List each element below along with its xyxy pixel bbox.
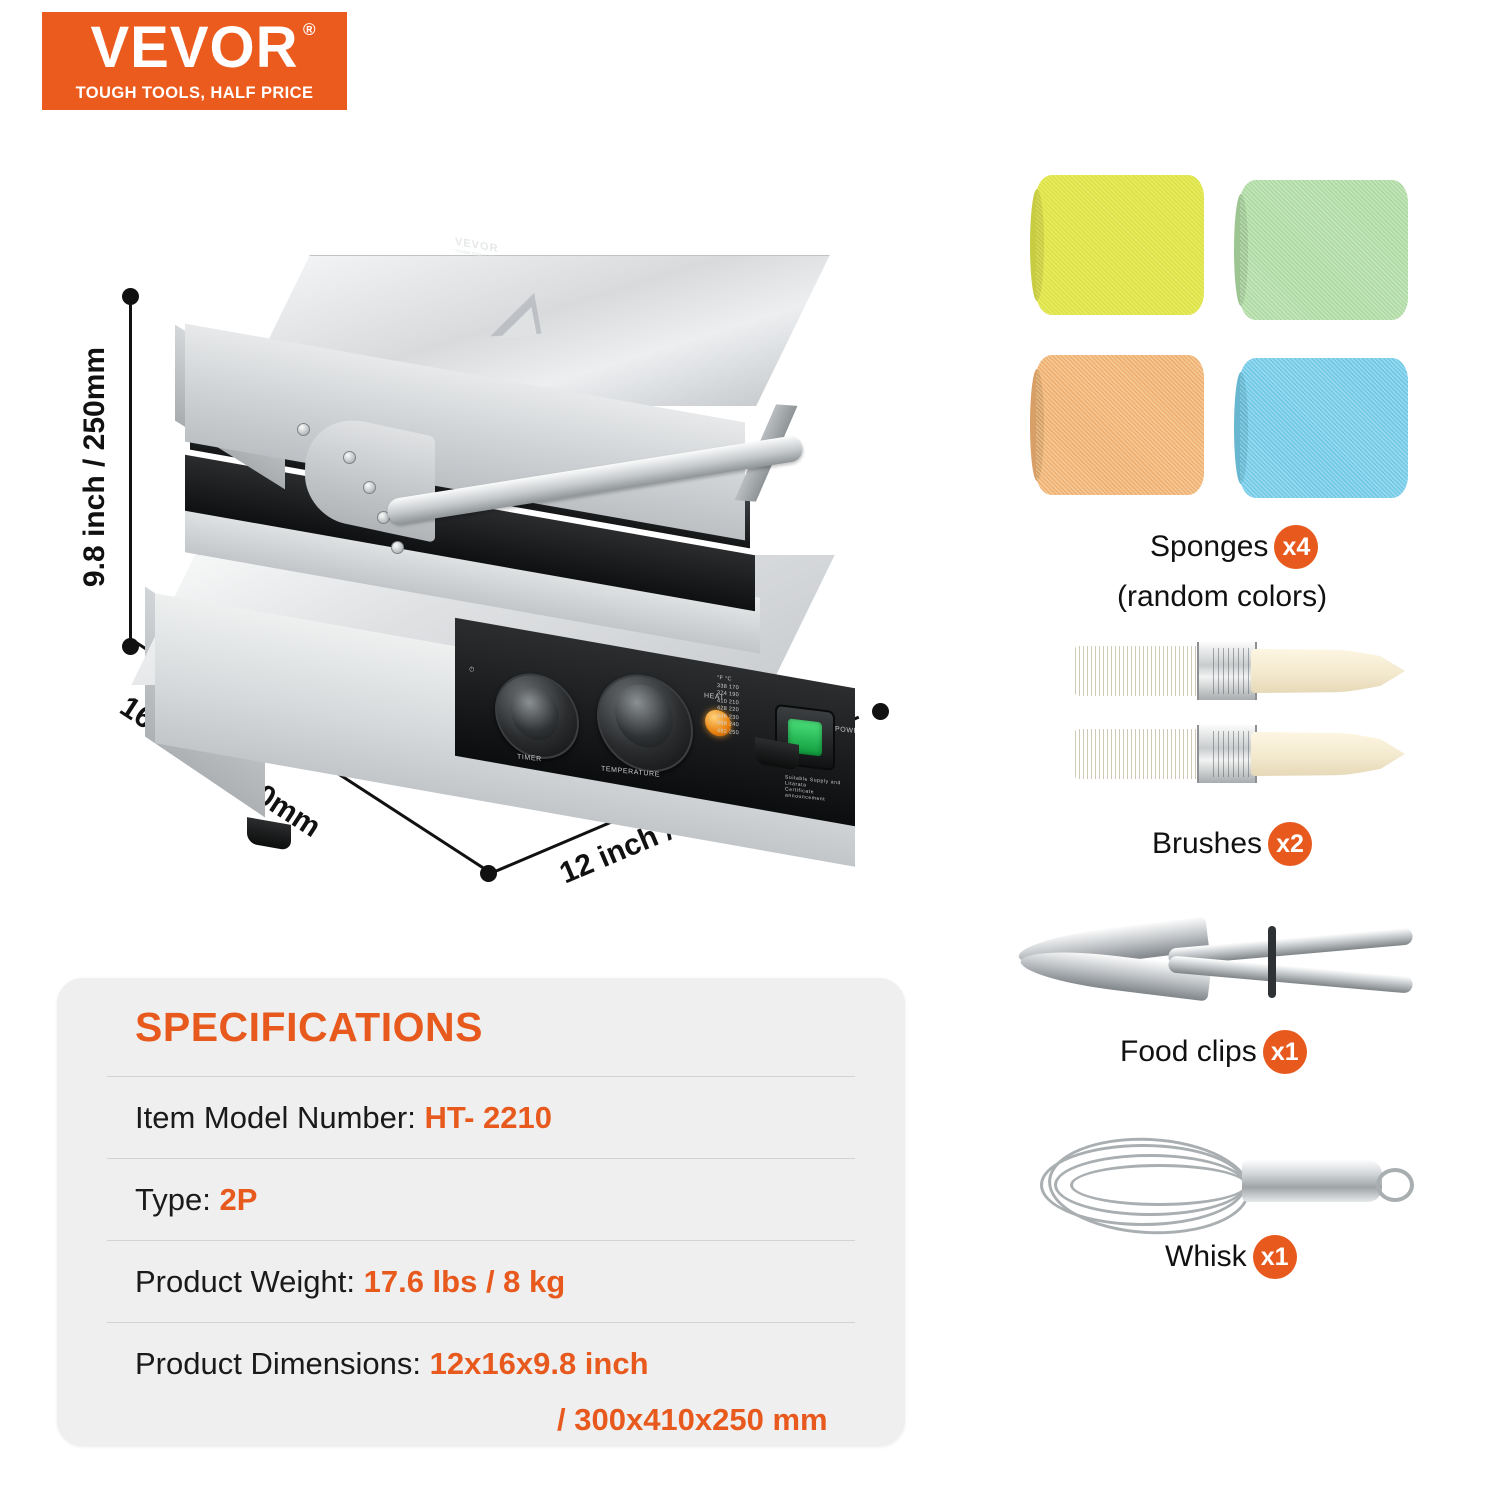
timer-knob-label: TIMER [517,754,542,764]
brand-name: VEVOR [90,15,298,80]
spec-value-dimensions-mm: / 300x410x250 mm [557,1402,828,1438]
spec-divider [107,1322,855,1323]
spec-divider [107,1076,855,1077]
brushes-label: Brushes x2 [1152,822,1312,866]
sponges-label-text: Sponges [1150,530,1268,564]
brand-wordmark: VEVOR ® [90,19,298,77]
spec-value-type: 2P [219,1182,257,1217]
spec-value-weight: 17.6 lbs / 8 kg [364,1264,566,1299]
spec-value-dimensions: 12x16x9.8 inch [430,1346,649,1381]
hinge-screw [343,451,356,464]
brush-item [1075,723,1405,785]
brushes-qty-badge: x2 [1268,822,1312,866]
sponge-yellow [1036,175,1204,315]
specifications-card: SPECIFICATIONS Item Model Number: HT- 22… [57,978,905,1446]
spec-divider [107,1240,855,1241]
tong-lock-ring [1268,926,1276,998]
brand-tagline: TOUGH TOOLS, HALF PRICE [76,84,314,103]
food-clips-label-text: Food clips [1120,1035,1257,1069]
timer-icon: ⏱ [469,666,475,675]
brush-bristles [1075,646,1201,696]
hinge-screw [363,481,376,494]
whisk-label-text: Whisk [1165,1240,1247,1274]
spec-row-weight: Product Weight: 17.6 lbs / 8 kg [135,1264,565,1300]
spec-divider [107,1158,855,1159]
spec-row-dimensions: Product Dimensions: 12x16x9.8 inch [135,1346,649,1382]
sponge-blue [1240,358,1408,498]
spec-label-weight: Product Weight: [135,1264,355,1299]
whisk-wire [1046,1133,1253,1239]
food-clips-qty-badge: x1 [1263,1030,1307,1074]
spec-label-dimensions: Product Dimensions: [135,1346,421,1381]
sponges-note: (random colors) [1117,580,1327,614]
specifications-title: SPECIFICATIONS [135,1004,483,1051]
whisk-handle [1242,1160,1382,1202]
whisk-qty-badge: x1 [1253,1235,1297,1279]
whisk-label: Whisk x1 [1165,1235,1297,1279]
spec-row-model: Item Model Number: HT- 2210 [135,1100,552,1136]
sponges-label: Sponges x4 [1150,525,1318,569]
machine-foot [247,817,291,851]
spec-label-type: Type: [135,1182,211,1217]
brush-handle [1251,732,1405,776]
product-photo: 9.8 inch / 250mm 16 inch / 410mm 12 inch… [60,170,920,930]
registered-trademark-icon: ® [303,21,317,38]
brush-ferrule [1197,642,1257,700]
whisk-hanging-loop [1376,1168,1414,1202]
height-dim-line [129,296,132,646]
sponges-qty-badge: x4 [1274,525,1318,569]
vevor-logo: VEVOR ® TOUGH TOOLS, HALF PRICE [42,12,347,110]
brush-handle [1251,649,1405,693]
food-clips-item [1018,912,1418,1012]
height-dim-label: 9.8 inch / 250mm [78,347,112,587]
certification-fine-print: Suitable Supply and Litarata Certificate… [785,774,855,805]
whisk-item [1020,1130,1420,1240]
spec-label-model: Item Model Number: [135,1100,416,1135]
waffle-maker-machine: ⏱ TIMER TEMPERATURE HEAT °F °C 338 170 3… [155,255,875,905]
hinge-screw [391,541,404,554]
food-clips-label: Food clips x1 [1120,1030,1307,1074]
brush-bristles [1075,729,1201,779]
spec-row-type: Type: 2P [135,1182,257,1218]
spec-value-model: HT- 2210 [424,1100,552,1135]
brush-item [1075,640,1405,702]
brush-ferrule [1197,725,1257,783]
sponge-green [1240,180,1408,320]
power-switch-label: POWER [835,726,855,736]
lid-screw [297,423,310,436]
temperature-conversion-chart: °F °C 338 170 374 190 410 210 428 220 44… [717,676,777,782]
sponge-orange [1036,355,1204,495]
brushes-label-text: Brushes [1152,827,1262,861]
